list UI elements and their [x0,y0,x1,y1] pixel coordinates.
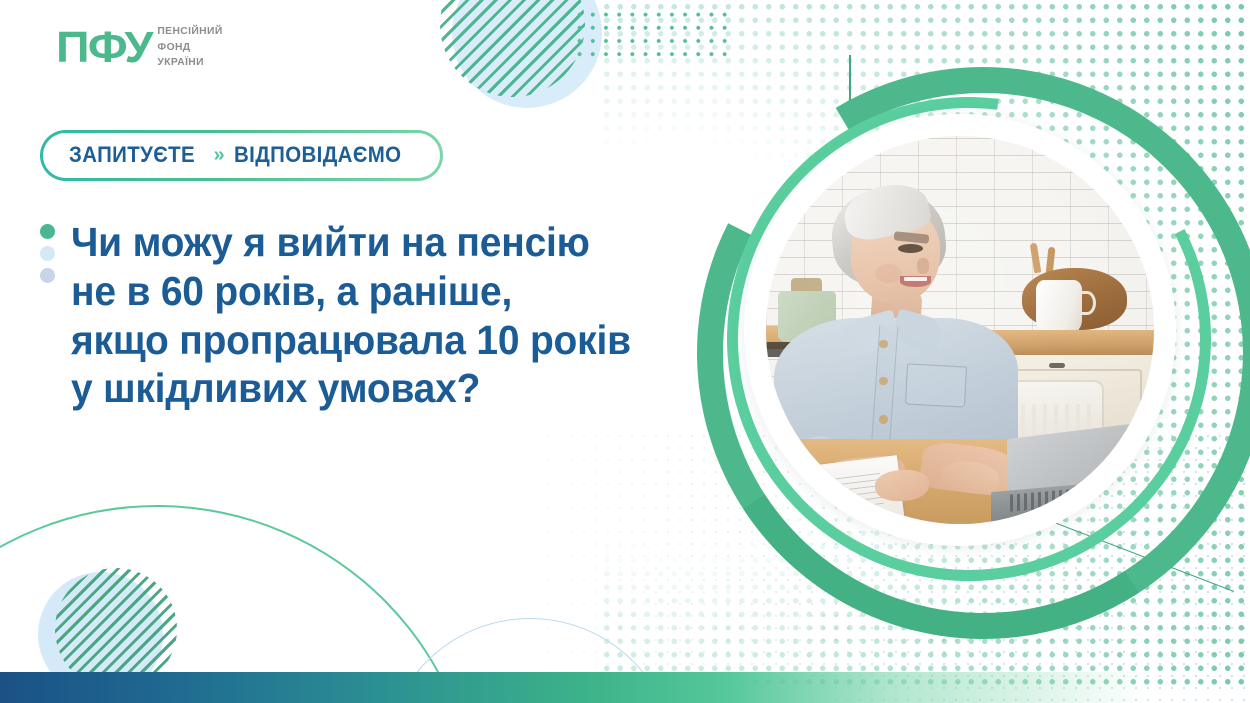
photo-lighting-overlay [766,136,1154,524]
thin-green-arc-decoration [0,408,576,703]
banner-root: ПФУ ПЕНСІЙНИЙ ФОНД УКРАЇНИ ЗАПИТУЄТЕ » В… [0,0,1250,703]
pfu-tagline-line-1: ПЕНСІЙНИЙ [157,24,222,40]
accent-dot-blue-grey [40,268,55,283]
dot-grid-decoration [573,8,731,60]
accent-dot-light-blue [40,246,55,261]
headline-block: Чи можу я вийти на пенсію не в 60 років,… [40,218,660,413]
pfu-logo-tagline: ПЕНСІЙНИЙ ФОНД УКРАЇНИ [157,24,222,71]
pfu-logo-mark: ПФУ [56,26,152,69]
page-title: Чи можу я вийти на пенсію не в 60 років,… [71,218,631,413]
pfu-tagline-line-3: УКРАЇНИ [157,55,222,71]
qa-badge-answer-label: ВІДПОВІДАЄМО [234,142,401,168]
qa-badge-inner: ЗАПИТУЄТЕ » ВІДПОВІДАЄМО [43,133,440,178]
qa-badge[interactable]: ЗАПИТУЄТЕ » ВІДПОВІДАЄМО [40,130,443,181]
headline-line-3: якщо пропрацювала 10 років [71,316,631,365]
accent-dot-green [40,224,55,239]
double-chevron-right-icon: » [214,145,225,165]
headline-line-1: Чи можу я вийти на пенсію [71,218,631,267]
headline-line-4: у шкідливих умовах? [71,364,631,413]
thin-vertical-line-decoration [849,55,851,121]
striped-circle-decoration-top [440,0,585,97]
portrait-photo [766,136,1154,524]
qa-badge-question-label: ЗАПИТУЄТЕ [69,142,195,168]
accent-dots-group [40,218,55,413]
headline-line-2: не в 60 років, а раніше, [71,267,631,316]
pfu-tagline-line-2: ФОНД [157,40,222,56]
blue-circle-decoration-top [452,0,602,108]
pfu-logo[interactable]: ПФУ ПЕНСІЙНИЙ ФОНД УКРАЇНИ [56,24,223,71]
bottom-gradient-bar [0,672,1250,703]
